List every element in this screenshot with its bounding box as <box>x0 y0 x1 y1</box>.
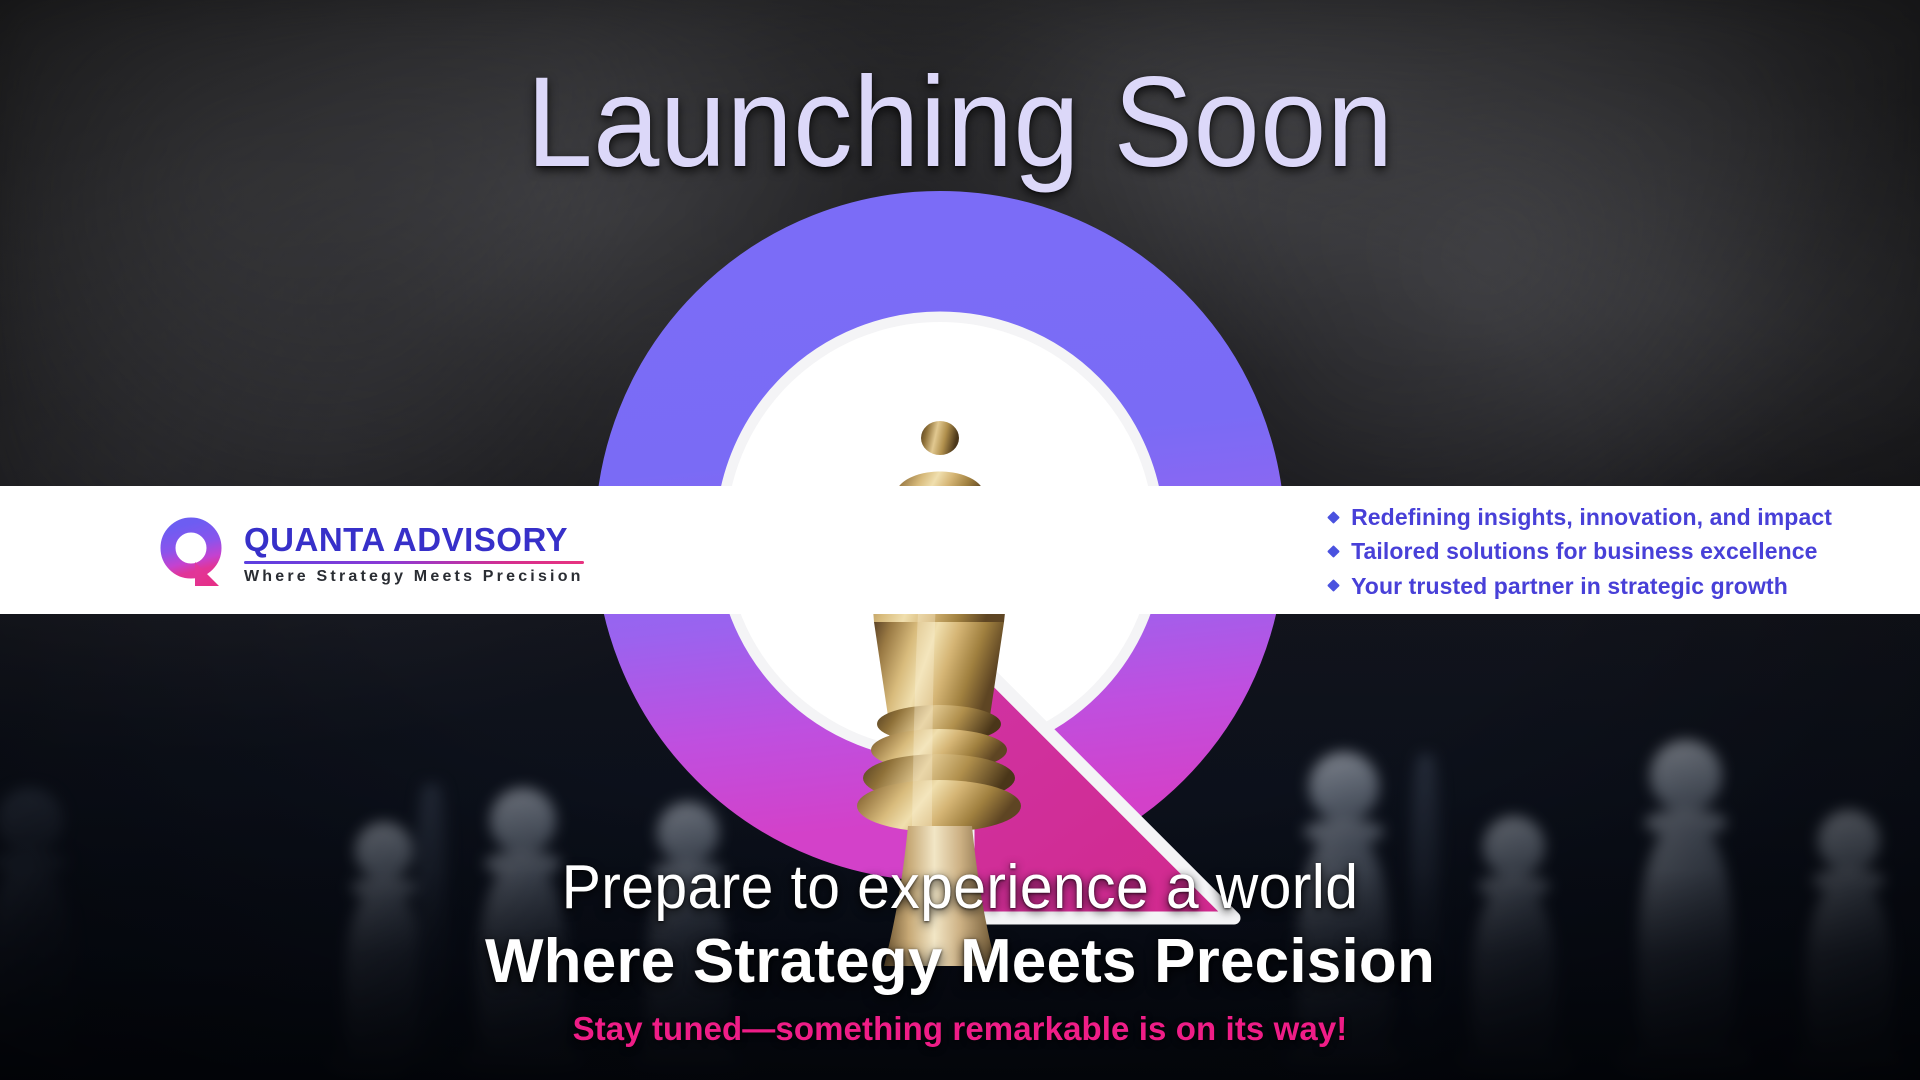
list-item: Redefining insights, innovation, and imp… <box>1329 502 1832 532</box>
page-title: Launching Soon <box>67 58 1853 189</box>
brand-wordmark: QUANTA ADVISORY Where Strategy Meets Pre… <box>244 521 584 585</box>
quanta-q-logo-icon <box>158 517 230 589</box>
brand-tagline: Where Strategy Meets Precision <box>244 568 584 586</box>
value-proposition-list: Redefining insights, innovation, and imp… <box>1329 502 1832 601</box>
diamond-bullet-icon <box>1327 545 1340 558</box>
brand-underline <box>244 561 584 564</box>
banner-canvas: Launching Soon <box>0 0 1920 1080</box>
footer-call-to-action: Stay tuned—something remarkable is on it… <box>0 1010 1920 1048</box>
list-item-label: Your trusted partner in strategic growth <box>1351 571 1788 601</box>
list-item: Tailored solutions for business excellen… <box>1329 536 1817 566</box>
brand-name: QUANTA ADVISORY <box>244 523 584 558</box>
footer-line-1: Prepare to experience a world <box>48 852 1872 923</box>
brand-logo[interactable]: QUANTA ADVISORY Where Strategy Meets Pre… <box>158 512 584 594</box>
list-item-label: Redefining insights, innovation, and imp… <box>1351 502 1832 532</box>
list-item-label: Tailored solutions for business excellen… <box>1351 536 1817 566</box>
list-item: Your trusted partner in strategic growth <box>1329 571 1788 601</box>
footer-line-2: Where Strategy Meets Precision <box>0 926 1920 997</box>
diamond-bullet-icon <box>1327 511 1340 524</box>
diamond-bullet-icon <box>1327 580 1340 593</box>
